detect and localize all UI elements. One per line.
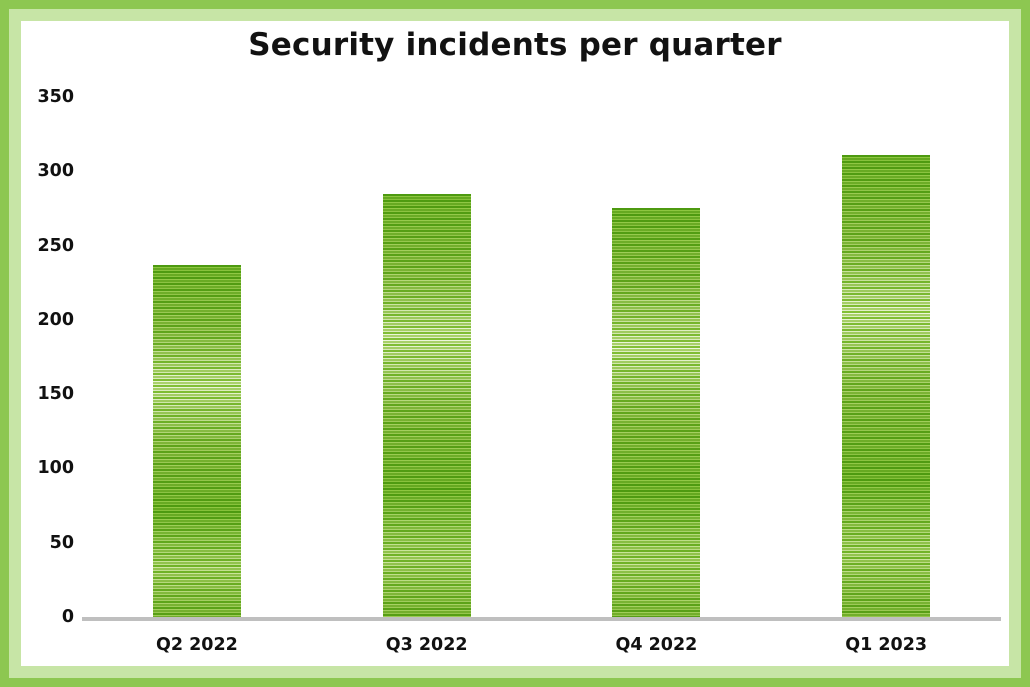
x-axis-tick-label: Q3 2022	[386, 635, 468, 655]
bar[interactable]	[153, 265, 241, 617]
chart-card: Security incidents per quarter 050100150…	[0, 0, 1030, 687]
x-axis-tick-label: Q4 2022	[615, 635, 697, 655]
chart-canvas: Security incidents per quarter 050100150…	[21, 21, 1009, 666]
y-axis-tick-label: 0	[21, 607, 74, 627]
y-axis-tick-label: 50	[21, 533, 74, 553]
bar[interactable]	[612, 208, 700, 617]
plot-area: 050100150200250300350Q2 2022Q3 2022Q4 20…	[21, 21, 1009, 666]
y-axis-tick-label: 200	[21, 310, 74, 330]
x-axis-tick-label: Q1 2023	[845, 635, 927, 655]
y-axis-tick-label: 150	[21, 384, 74, 404]
x-axis-tick-label: Q2 2022	[156, 635, 238, 655]
y-axis-tick-label: 100	[21, 458, 74, 478]
x-axis-baseline	[82, 617, 1001, 621]
bar[interactable]	[842, 155, 930, 617]
y-axis-tick-label: 350	[21, 87, 74, 107]
y-axis-tick-label: 250	[21, 236, 74, 256]
bar[interactable]	[383, 194, 471, 617]
y-axis-tick-label: 300	[21, 161, 74, 181]
